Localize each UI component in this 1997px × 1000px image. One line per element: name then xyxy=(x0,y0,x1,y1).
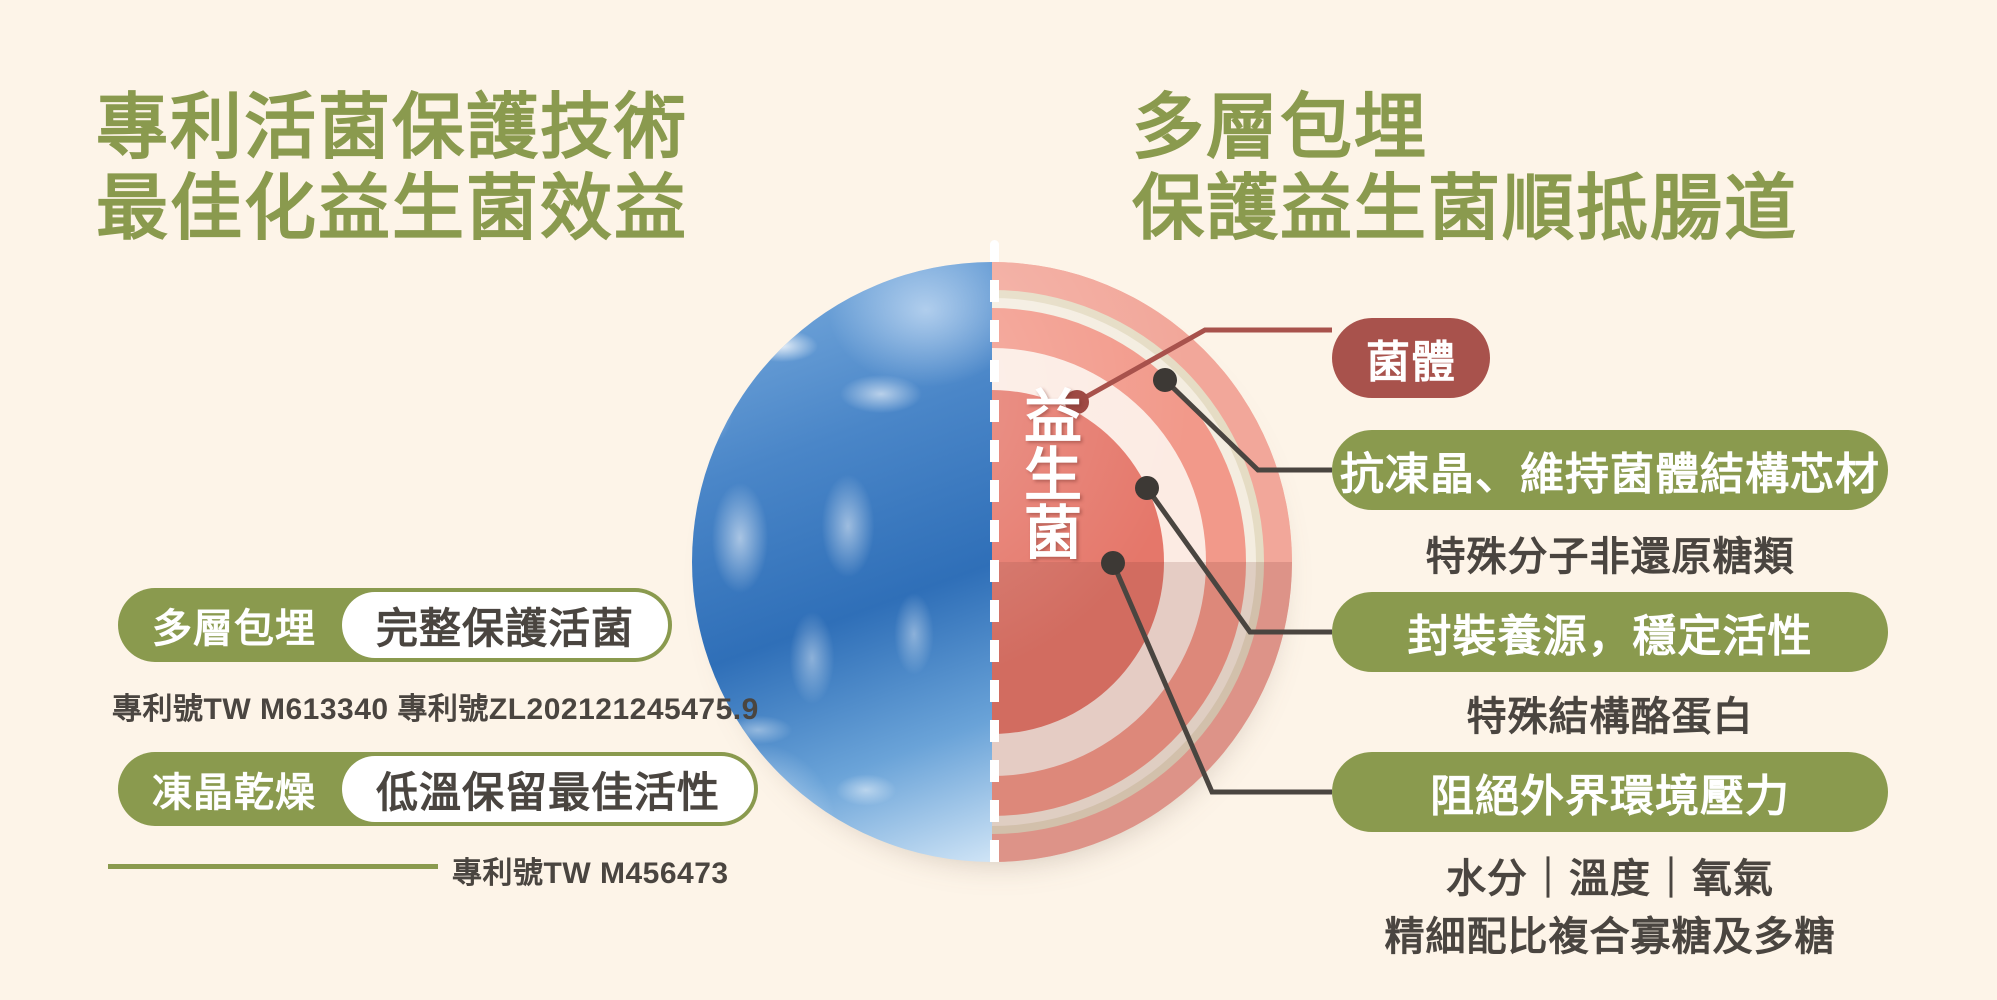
dashed-vertical-divider xyxy=(990,240,999,880)
probiotic-center-label: 益生菌 xyxy=(1013,386,1077,560)
leader-line-1 xyxy=(1153,368,1332,470)
leader-line-2 xyxy=(1135,476,1332,632)
leader-line-0 xyxy=(1065,330,1332,414)
